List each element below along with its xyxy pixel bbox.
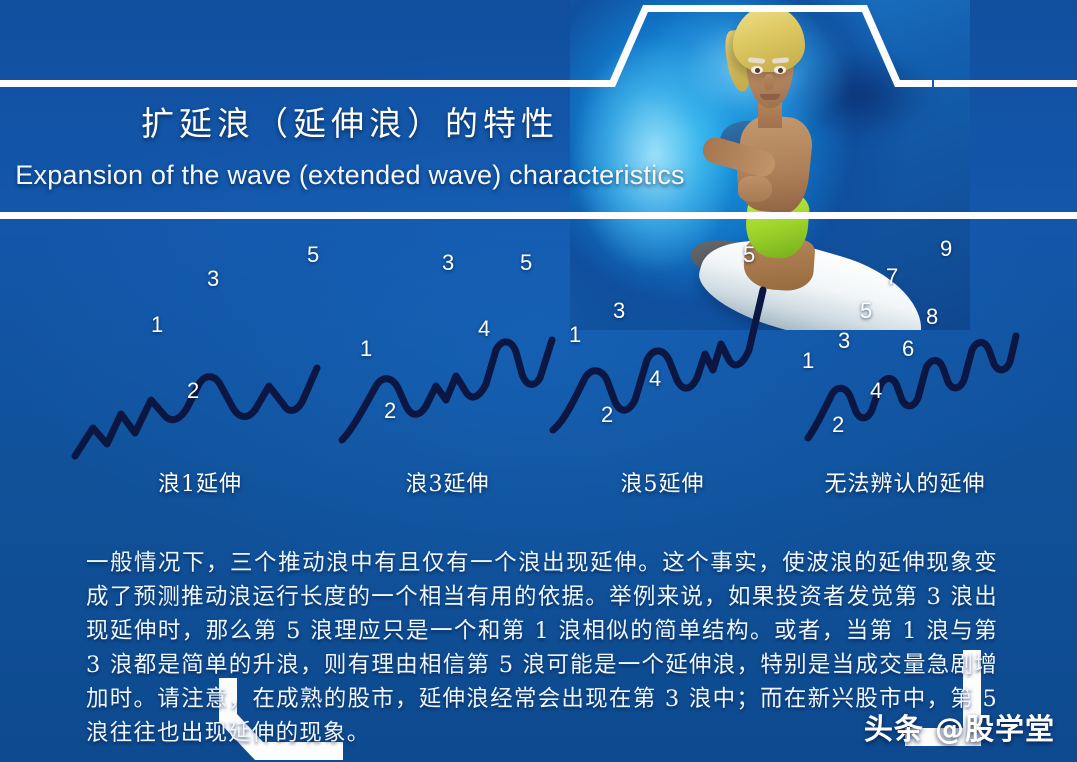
slide-canvas: 扩延浪（延伸浪）的特性 Expansion of the wave (exten… (0, 0, 1077, 762)
wave-label-5: 5 (307, 244, 319, 266)
wave-label-2: 2 (832, 414, 844, 436)
wave-label-2: 2 (601, 404, 613, 426)
surfer-hand (738, 176, 772, 202)
wave-label-9: 9 (940, 238, 952, 260)
wave-diagram-row: 1 2 3 5 浪1延伸 1 2 3 4 5 浪3延伸 1 2 3 4 (0, 228, 1077, 518)
wave-label-1: 1 (151, 314, 163, 336)
wave-label-7: 7 (886, 266, 898, 288)
diagram-caption-4: 无法辨认的延伸 (790, 466, 1020, 498)
wave-label-1: 1 (569, 324, 581, 346)
wave-label-6: 6 (902, 338, 914, 360)
frame-notch (545, 0, 965, 90)
frame-rule-bottom (0, 212, 1077, 219)
page-subtitle-english: Expansion of the wave (extended wave) ch… (0, 160, 700, 191)
wave-label-1: 1 (360, 338, 372, 360)
diagram-unidentifiable-extension: 1 2 3 4 5 6 7 8 9 无法辨认的延伸 (790, 228, 1020, 518)
wave-label-1: 1 (802, 350, 814, 372)
wave-label-3: 3 (442, 252, 454, 274)
wave-label-4: 4 (649, 368, 661, 390)
wave-1-extension-chart (55, 228, 345, 468)
wave-label-5: 5 (743, 244, 755, 266)
wave-label-4: 4 (478, 318, 490, 340)
wave-label-8: 8 (926, 306, 938, 328)
wave-label-2: 2 (187, 380, 199, 402)
diagram-wave-1-extension: 1 2 3 5 浪1延伸 (55, 228, 345, 518)
wave-label-3: 3 (838, 330, 850, 352)
diagram-caption-1: 浪1延伸 (55, 466, 345, 498)
wave-label-4: 4 (870, 380, 882, 402)
wave-label-3: 3 (613, 300, 625, 322)
wave-label-5: 5 (860, 300, 872, 322)
frame-rule-top-left (0, 80, 578, 87)
diagram-wave-3-extension: 1 2 3 4 5 浪3延伸 (330, 228, 565, 518)
watermark: 头条 @股学堂 (864, 706, 1055, 748)
page-title-chinese: 扩延浪（延伸浪）的特性 (0, 97, 700, 145)
wave-label-2: 2 (384, 400, 396, 422)
body-paragraph-text: 一般情况下，三个推动浪中有且仅有一个浪出现延伸。这个事实，使波浪的延伸现象变成了… (86, 546, 998, 750)
diagram-caption-2: 浪3延伸 (330, 466, 565, 498)
wave-label-3: 3 (207, 268, 219, 290)
diagram-wave-5-extension: 1 2 3 4 5 浪5延伸 (545, 228, 780, 518)
surfer-mouth (760, 94, 780, 100)
wave-label-5: 5 (520, 252, 532, 274)
body-paragraph: 一般情况下，三个推动浪中有且仅有一个浪出现延伸。这个事实，使波浪的延伸现象变成了… (86, 546, 998, 750)
diagram-caption-3: 浪5延伸 (545, 466, 780, 498)
